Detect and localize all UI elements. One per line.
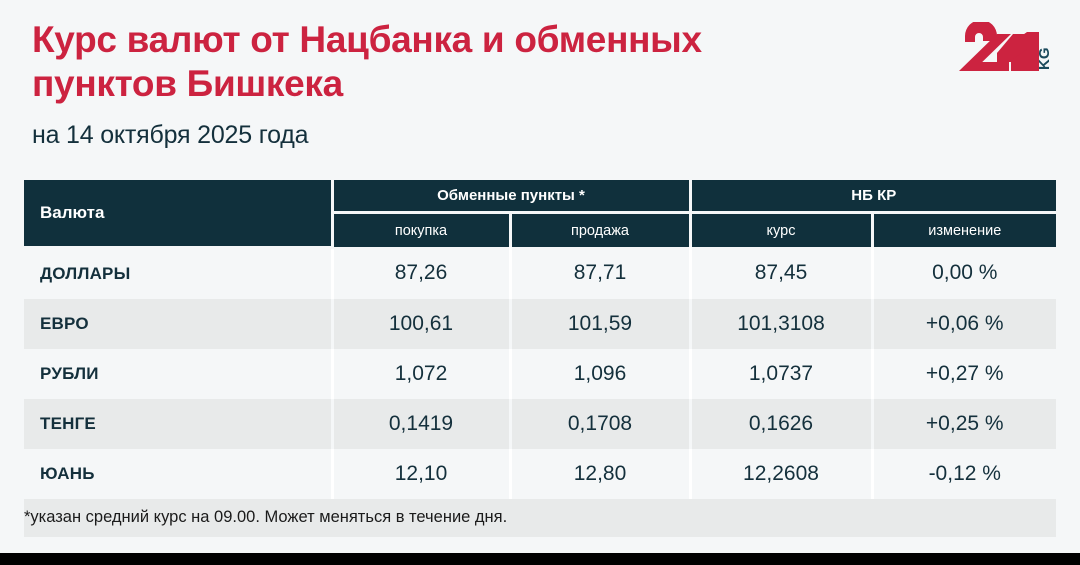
cell-change: -0,12 % xyxy=(872,449,1056,499)
table-row: ЮАНЬ 12,10 12,80 12,2608 -0,12 % xyxy=(24,449,1056,499)
cell-buy: 0,1419 xyxy=(332,399,510,449)
cell-sell: 87,71 xyxy=(510,247,690,299)
table-row: ТЕНГЕ 0,1419 0,1708 0,1626 +0,25 % xyxy=(24,399,1056,449)
page-title: Курс валют от Нацбанка и обменных пункто… xyxy=(32,18,732,105)
cell-rate: 1,0737 xyxy=(690,349,872,399)
bottom-black-bar xyxy=(0,553,1080,565)
cell-currency-name: ЕВРО xyxy=(24,299,332,349)
table-body: ДОЛЛАРЫ 87,26 87,71 87,45 0,00 % ЕВРО 10… xyxy=(24,247,1056,537)
cell-sell: 1,096 xyxy=(510,349,690,399)
cell-change: +0,27 % xyxy=(872,349,1056,399)
footnote-text: *указан средний курс на 09.00. Может мен… xyxy=(24,499,1056,537)
cell-rate: 12,2608 xyxy=(690,449,872,499)
page-subtitle-date: на 14 октября 2025 года xyxy=(32,121,1056,150)
cell-change: +0,25 % xyxy=(872,399,1056,449)
table-row: РУБЛИ 1,072 1,096 1,0737 +0,27 % xyxy=(24,349,1056,399)
table-head: Валюта Обменные пункты * НБ КР покупка п… xyxy=(24,180,1056,247)
cell-rate: 0,1626 xyxy=(690,399,872,449)
cell-buy: 87,26 xyxy=(332,247,510,299)
infographic-page: Курс валют от Нацбанка и обменных пункто… xyxy=(0,0,1080,565)
column-header-sell: продажа xyxy=(510,213,690,248)
cell-rate: 87,45 xyxy=(690,247,872,299)
column-header-currency: Валюта xyxy=(24,180,332,247)
cell-change: 0,00 % xyxy=(872,247,1056,299)
currency-rates-table: Валюта Обменные пункты * НБ КР покупка п… xyxy=(24,180,1056,537)
cell-change: +0,06 % xyxy=(872,299,1056,349)
table-row: ЕВРО 100,61 101,59 101,3108 +0,06 % xyxy=(24,299,1056,349)
table-header-row-top: Валюта Обменные пункты * НБ КР xyxy=(24,180,1056,213)
cell-rate: 101,3108 xyxy=(690,299,872,349)
cell-currency-name: ТЕНГЕ xyxy=(24,399,332,449)
cell-currency-name: ДОЛЛАРЫ xyxy=(24,247,332,299)
header-block: Курс валют от Нацбанка и обменных пункто… xyxy=(32,18,1056,150)
rates-table-container: Валюта Обменные пункты * НБ КР покупка п… xyxy=(24,180,1056,537)
column-header-buy: покупка xyxy=(332,213,510,248)
table-footnote-row: *указан средний курс на 09.00. Может мен… xyxy=(24,499,1056,537)
logo-kg-text: KG xyxy=(1036,48,1053,71)
cell-sell: 101,59 xyxy=(510,299,690,349)
column-header-rate: курс xyxy=(690,213,872,248)
24kg-logo: KG xyxy=(953,22,1058,80)
cell-sell: 12,80 xyxy=(510,449,690,499)
cell-buy: 12,10 xyxy=(332,449,510,499)
cell-currency-name: РУБЛИ xyxy=(24,349,332,399)
column-group-header-exchange-offices: Обменные пункты * xyxy=(332,180,690,213)
cell-sell: 0,1708 xyxy=(510,399,690,449)
table-row: ДОЛЛАРЫ 87,26 87,71 87,45 0,00 % xyxy=(24,247,1056,299)
cell-buy: 1,072 xyxy=(332,349,510,399)
cell-currency-name: ЮАНЬ xyxy=(24,449,332,499)
cell-buy: 100,61 xyxy=(332,299,510,349)
column-group-header-nbkr: НБ КР xyxy=(690,180,1056,213)
column-header-change: изменение xyxy=(872,213,1056,248)
